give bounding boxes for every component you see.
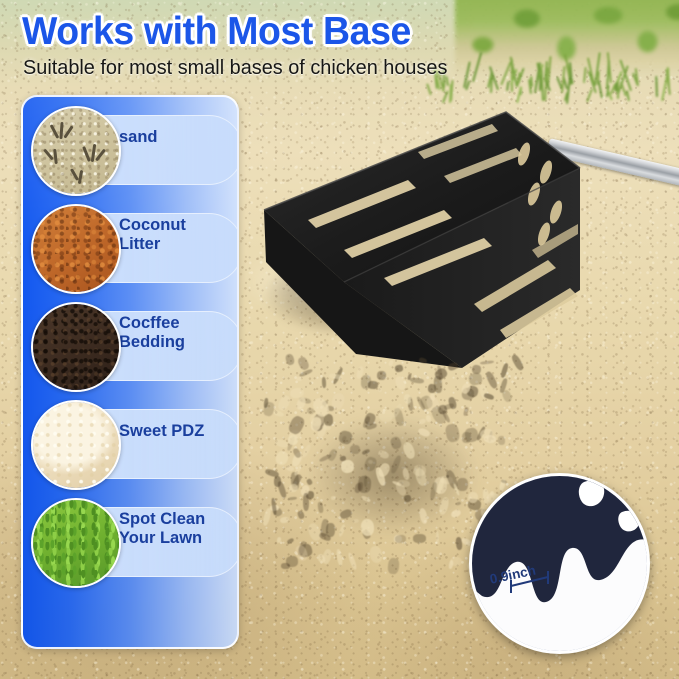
list-item[interactable]: Coconut Litter bbox=[23, 201, 237, 293]
material-label: Cocffee Bedding bbox=[119, 299, 231, 367]
material-label: sand bbox=[119, 103, 231, 171]
material-label: Spot Clean Your Lawn bbox=[119, 495, 231, 563]
list-item[interactable]: Cocffee Bedding bbox=[23, 299, 237, 391]
coconut-litter-texture-circle bbox=[31, 204, 121, 294]
base-material-panel: sand Coconut Litter bbox=[21, 95, 239, 649]
coffee-bedding-texture bbox=[33, 304, 119, 390]
sand-texture-circle bbox=[31, 106, 121, 196]
dimension-callout: 0.9inch bbox=[469, 473, 650, 654]
list-item[interactable]: Spot Clean Your Lawn bbox=[23, 495, 237, 587]
material-label: Coconut Litter bbox=[119, 201, 231, 269]
sweet-pdz-texture bbox=[33, 402, 119, 488]
sand-texture bbox=[33, 108, 119, 194]
coconut-litter-texture bbox=[33, 206, 119, 292]
coffee-bedding-texture-circle bbox=[31, 302, 121, 392]
list-item[interactable]: Sweet PDZ bbox=[23, 397, 237, 489]
sweet-pdz-texture-circle bbox=[31, 400, 121, 490]
scoop-tine-closeup bbox=[472, 476, 647, 651]
lawn-grass-texture-circle bbox=[31, 498, 121, 588]
page-title: Works with Most Base bbox=[22, 10, 411, 54]
page-subtitle: Suitable for most small bases of chicken… bbox=[23, 56, 447, 80]
material-label: Sweet PDZ bbox=[119, 397, 231, 465]
lawn-grass-texture bbox=[33, 500, 119, 586]
product-infographic: Works with Most Base Suitable for most s… bbox=[0, 0, 679, 679]
list-item[interactable]: sand bbox=[23, 103, 237, 195]
